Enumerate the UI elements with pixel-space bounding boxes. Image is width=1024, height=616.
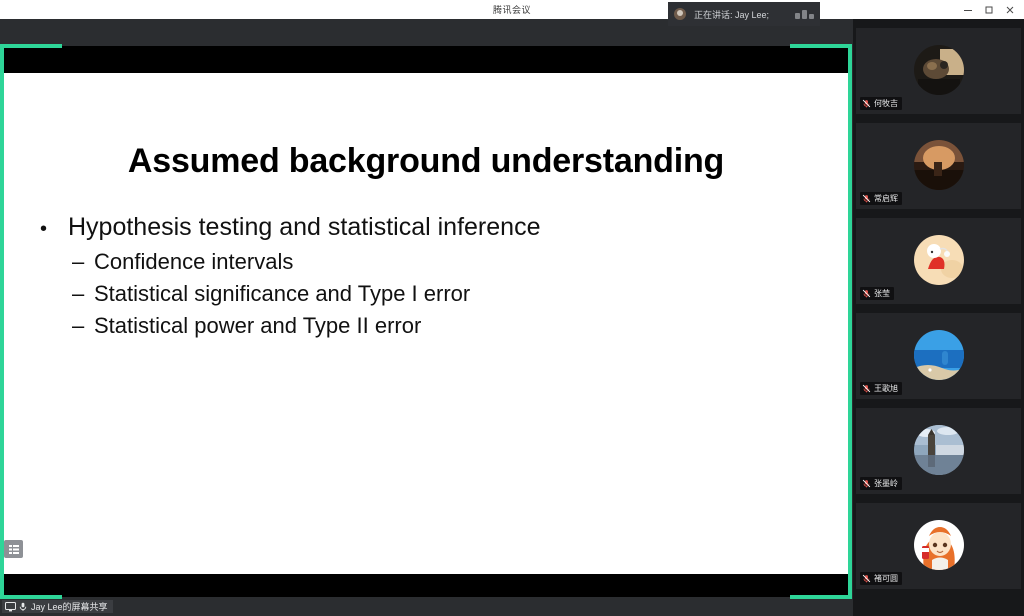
list-menu-icon	[8, 544, 20, 555]
participant-tile[interactable]: 褚可圆	[856, 503, 1021, 589]
anime-avatar-icon	[914, 520, 964, 570]
photo-avatar-icon	[914, 45, 964, 95]
screen-share-label: Jay Lee的屏幕共享	[31, 600, 108, 613]
monitor-icon	[5, 602, 16, 612]
participant-name-badge: 张莹	[860, 287, 894, 300]
photo-avatar-icon	[914, 140, 964, 190]
minimize-button[interactable]	[957, 1, 978, 18]
participant-name-badge: 张墨岭	[860, 477, 902, 490]
slide-title: Assumed background understanding	[0, 142, 852, 181]
participant-name-badge: 褚可圆	[860, 572, 902, 585]
window-title: 腾讯会议	[493, 3, 531, 16]
participant-tile[interactable]: 何牧吉	[856, 28, 1021, 114]
window-controls	[957, 0, 1020, 19]
screen-share-status[interactable]: Jay Lee的屏幕共享	[2, 600, 113, 613]
mic-icon	[19, 602, 27, 612]
participant-name: 王歌旭	[874, 383, 898, 394]
participant-tile[interactable]: 张莹	[856, 218, 1021, 304]
participants-panel[interactable]: 何牧吉 常启辉	[853, 19, 1024, 616]
participant-tile[interactable]: 常启辉	[856, 123, 1021, 209]
share-border-right	[848, 44, 852, 599]
presentation-slide: Assumed background understanding • Hypot…	[0, 73, 852, 574]
bullet-text: Statistical power and Type II error	[94, 313, 421, 339]
window-titlebar: 腾讯会议	[0, 0, 1024, 19]
landmark-avatar-icon	[914, 425, 964, 475]
participant-name-badge: 常启辉	[860, 192, 902, 205]
shared-content-frame: Assumed background understanding • Hypot…	[0, 46, 852, 599]
status-bar: Jay Lee的屏幕共享	[0, 597, 853, 616]
list-item: – Statistical power and Type II error	[72, 313, 830, 339]
bullet-text: Statistical significance and Type I erro…	[94, 281, 470, 307]
participant-tile[interactable]: 王歌旭	[856, 313, 1021, 399]
maximize-button[interactable]	[978, 1, 999, 18]
participant-name: 褚可圆	[874, 573, 898, 584]
list-item: – Confidence intervals	[72, 249, 830, 275]
slide-bullet-list: • Hypothesis testing and statistical inf…	[40, 213, 830, 345]
bullet-marker: –	[72, 281, 94, 307]
participant-name: 何牧吉	[874, 98, 898, 109]
landscape-avatar-icon	[914, 330, 964, 380]
mic-muted-icon	[862, 194, 871, 203]
list-item: – Statistical significance and Type I er…	[72, 281, 830, 307]
bullet-text: Hypothesis testing and statistical infer…	[68, 213, 540, 242]
mic-muted-icon	[862, 99, 871, 108]
cartoon-avatar-icon	[914, 235, 964, 285]
mic-muted-icon	[862, 574, 871, 583]
slide-menu-button[interactable]	[4, 540, 23, 558]
participant-name-badge: 何牧吉	[860, 97, 902, 110]
active-speaker-label: 正在讲话: Jay Lee;	[694, 8, 769, 21]
mic-muted-icon	[862, 384, 871, 393]
active-speaker-indicator: 正在讲话: Jay Lee;	[668, 2, 820, 26]
audio-wave-icon	[795, 10, 814, 19]
bullet-marker: •	[40, 219, 68, 239]
mic-muted-icon	[862, 479, 871, 488]
participant-name: 张墨岭	[874, 478, 898, 489]
speaking-avatar-icon	[674, 8, 686, 20]
shared-screen-stage: Assumed background understanding • Hypot…	[0, 19, 853, 597]
participant-tile[interactable]: 张墨岭	[856, 408, 1021, 494]
participant-name: 常启辉	[874, 193, 898, 204]
close-button[interactable]	[999, 1, 1020, 18]
bullet-marker: –	[72, 313, 94, 339]
bullet-marker: –	[72, 249, 94, 275]
participant-name-badge: 王歌旭	[860, 382, 902, 395]
list-item: • Hypothesis testing and statistical inf…	[40, 213, 830, 242]
bullet-text: Confidence intervals	[94, 249, 293, 275]
mic-muted-icon	[862, 289, 871, 298]
share-border-left	[0, 44, 4, 599]
participant-name: 张莹	[874, 288, 890, 299]
